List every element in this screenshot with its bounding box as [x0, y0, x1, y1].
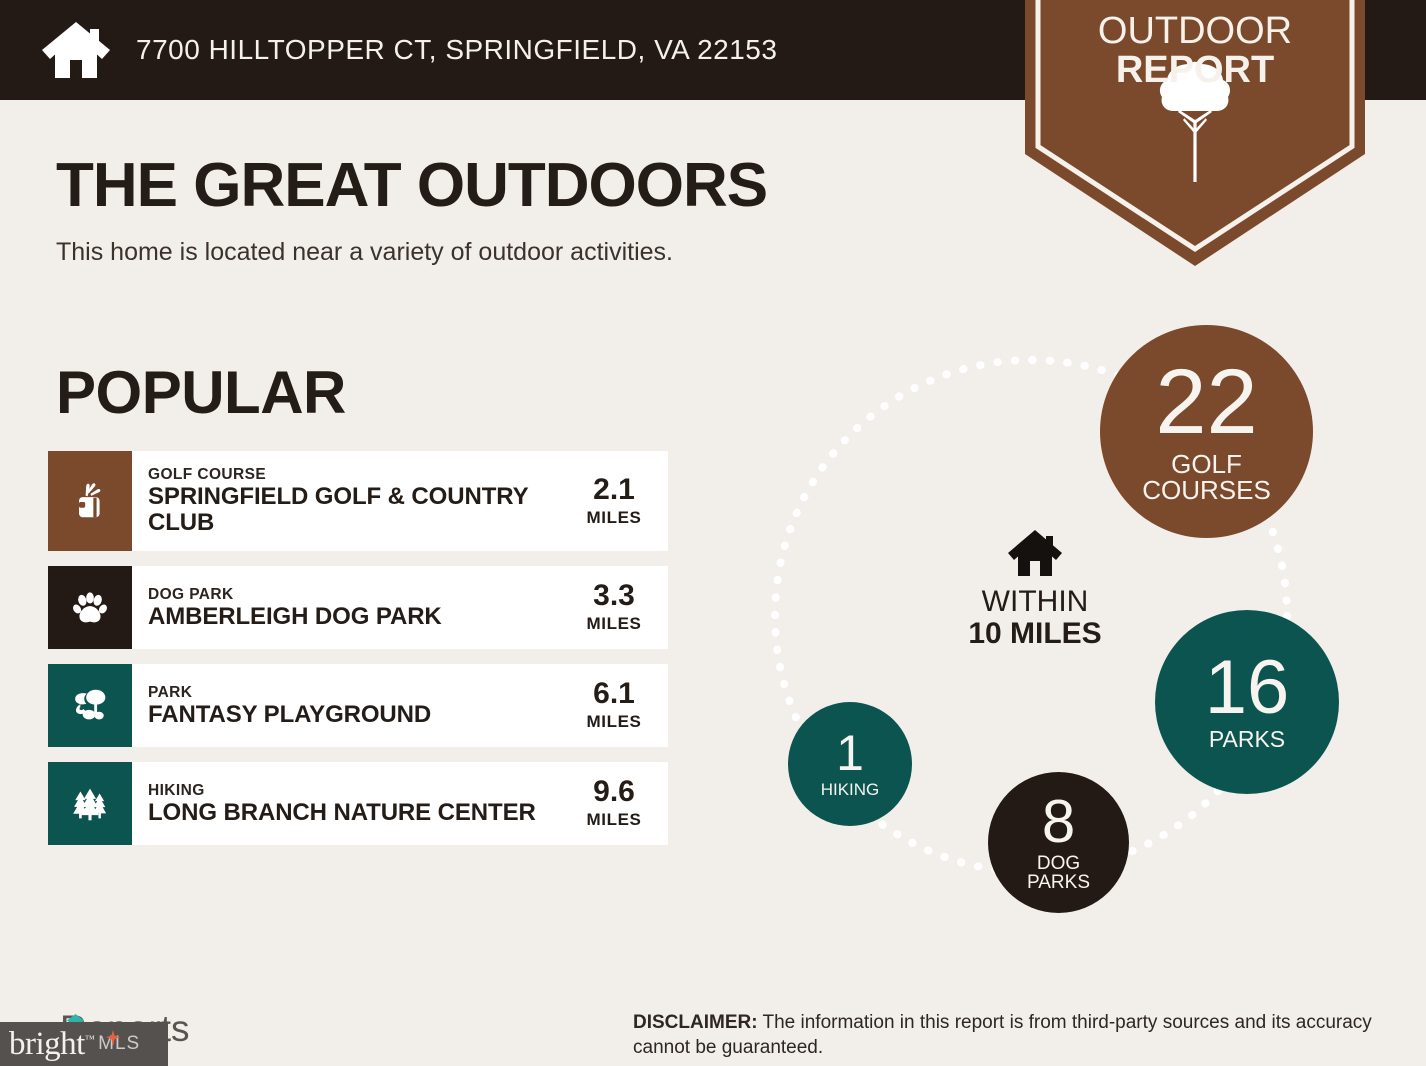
- bubble-golf-courses: 22 GOLF COURSES: [1100, 325, 1313, 538]
- list-item-name: FANTASY PLAYGROUND: [148, 702, 554, 728]
- list-item[interactable]: DOG PARK AMBERLEIGH DOG PARK 3.3 MILES: [48, 566, 668, 649]
- golf-bag-icon: [67, 478, 113, 524]
- list-item-text: GOLF COURSE SPRINGFIELD GOLF & COUNTRY C…: [132, 451, 560, 551]
- list-item-distance-value: 9.6: [593, 777, 635, 807]
- home-icon: [1006, 528, 1064, 578]
- sparkle-icon: [106, 1030, 120, 1046]
- trademark-symbol: ™: [85, 1034, 94, 1045]
- bubble-label: DOG PARKS: [1027, 854, 1090, 893]
- list-item[interactable]: GOLF COURSE SPRINGFIELD GOLF & COUNTRY C…: [48, 451, 668, 551]
- bubble-value: 8: [1042, 793, 1075, 850]
- disclaimer: DISCLAIMER: The information in this repo…: [633, 1010, 1393, 1061]
- list-item-text: PARK FANTASY PLAYGROUND: [132, 664, 560, 747]
- bubble-value: 22: [1155, 359, 1257, 446]
- list-item-distance-unit: MILES: [587, 810, 642, 830]
- list-item-distance: 3.3 MILES: [560, 566, 668, 649]
- list-item-name: LONG BRANCH NATURE CENTER: [148, 800, 554, 826]
- pine-trees-icon: [67, 781, 113, 827]
- list-item-distance: 9.6 MILES: [560, 762, 668, 845]
- bubble-label: GOLF COURSES: [1142, 451, 1271, 504]
- page-title: THE GREAT OUTDOORS: [56, 150, 767, 221]
- list-item[interactable]: HIKING LONG BRANCH NATURE CENTER 9.6 MIL…: [48, 762, 668, 845]
- paw-print-icon: [67, 585, 113, 631]
- center-line-2: 10 MILES: [950, 618, 1120, 650]
- list-item-name: AMBERLEIGH DOG PARK: [148, 604, 554, 630]
- bubble-label-line-2: PARKS: [1027, 872, 1090, 893]
- bubble-label: PARKS: [1209, 728, 1285, 751]
- bubble-label-line-2: COURSES: [1142, 475, 1271, 505]
- list-item-category: DOG PARK: [148, 586, 554, 603]
- chart-center-label: WITHIN 10 MILES: [950, 528, 1120, 649]
- list-item-distance-unit: MILES: [587, 508, 642, 528]
- list-item-distance-value: 6.1: [593, 679, 635, 709]
- list-item-icon-tile: [48, 664, 132, 747]
- bubble-label: HIKING: [821, 781, 880, 798]
- list-item-distance-value: 2.1: [593, 475, 635, 505]
- section-heading-popular: POPULAR: [56, 358, 346, 427]
- bubble-label-line-1: DOG: [1037, 853, 1080, 874]
- bubble-hiking: 1 HIKING: [788, 702, 912, 826]
- popular-list: GOLF COURSE SPRINGFIELD GOLF & COUNTRY C…: [48, 451, 668, 860]
- list-item-distance-unit: MILES: [587, 712, 642, 732]
- bubble-chart: 22 GOLF COURSES 16 PARKS 8 DOG PARKS 1 H…: [735, 300, 1395, 940]
- list-item-distance: 2.1 MILES: [560, 451, 668, 551]
- outdoor-report-badge: OUTDOOR REPORT: [1025, 0, 1365, 266]
- park-trees-icon: [67, 683, 113, 729]
- list-item-distance-value: 3.3: [593, 581, 635, 611]
- list-item-icon-tile: [48, 762, 132, 845]
- page-subtitle: This home is located near a variety of o…: [56, 238, 673, 267]
- property-address: 7700 HILLTOPPER CT, SPRINGFIELD, VA 2215…: [136, 34, 777, 66]
- list-item-name: SPRINGFIELD GOLF & COUNTRY CLUB: [148, 484, 554, 536]
- list-item-distance: 6.1 MILES: [560, 664, 668, 747]
- center-line-1: WITHIN: [950, 586, 1120, 618]
- bubble-label-line-1: GOLF: [1171, 449, 1242, 479]
- list-item-category: HIKING: [148, 782, 554, 799]
- list-item-text: HIKING LONG BRANCH NATURE CENTER: [132, 762, 560, 845]
- bubble-value: 1: [836, 730, 864, 778]
- list-item-category: PARK: [148, 684, 554, 701]
- disclaimer-label: DISCLAIMER:: [633, 1012, 758, 1033]
- list-item-distance-unit: MILES: [587, 614, 642, 634]
- bright-wordmark: bright™: [9, 1026, 94, 1063]
- bubble-parks: 16 PARKS: [1155, 610, 1339, 794]
- home-icon: [38, 19, 114, 81]
- bubble-dog-parks: 8 DOG PARKS: [988, 772, 1129, 913]
- bubble-value: 16: [1205, 652, 1290, 724]
- list-item-text: DOG PARK AMBERLEIGH DOG PARK: [132, 566, 560, 649]
- bright-mls-logo: bright™ MLS: [0, 1022, 168, 1066]
- list-item-icon-tile: [48, 566, 132, 649]
- bright-text: bright: [9, 1026, 85, 1062]
- list-item-icon-tile: [48, 451, 132, 551]
- list-item-category: GOLF COURSE: [148, 466, 554, 483]
- list-item[interactable]: PARK FANTASY PLAYGROUND 6.1 MILES: [48, 664, 668, 747]
